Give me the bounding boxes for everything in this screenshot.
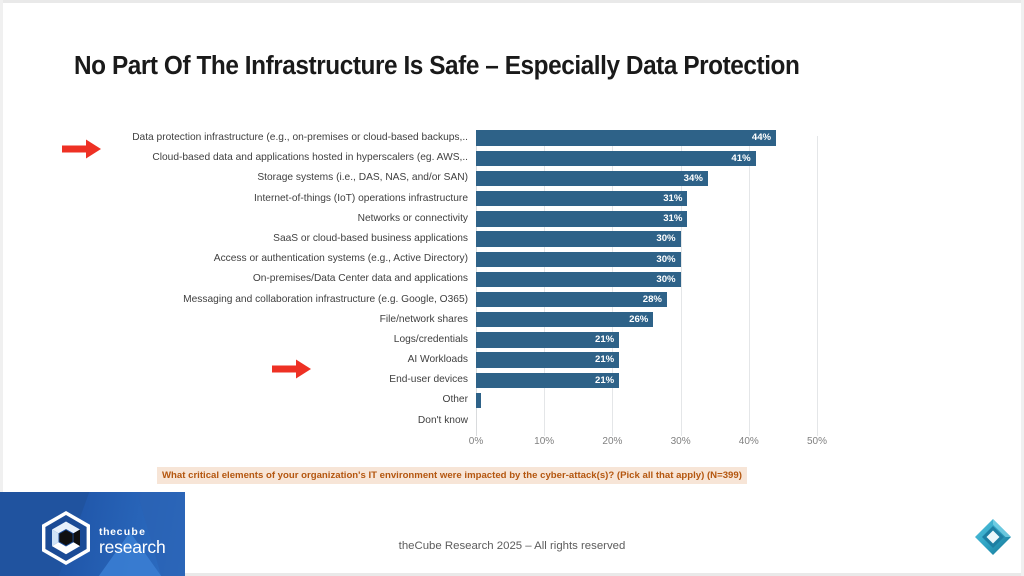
chart-category-label: Logs/credentials (394, 330, 476, 350)
chart-bar-container (476, 393, 481, 408)
logo-wordmark: theCUBE research (99, 525, 166, 556)
chart-row: AI Workloads21% (0, 350, 1024, 370)
chart-bar-container: 34% (476, 171, 708, 186)
chart-bar[interactable]: 44% (476, 130, 776, 145)
chart-bar-value: 26% (629, 312, 648, 327)
chart-bar-container: 26% (476, 312, 653, 327)
chart-bar[interactable]: 31% (476, 191, 687, 206)
chart-row: Storage systems (i.e., DAS, NAS, and/or … (0, 168, 1024, 188)
thecube-research-logo: theCUBE research (0, 492, 185, 576)
chart-bar[interactable]: 31% (476, 211, 687, 226)
chart-bar[interactable]: 21% (476, 373, 619, 388)
chart-bar-value: 21% (595, 332, 614, 347)
chart-row: SaaS or cloud-based business application… (0, 229, 1024, 249)
chart-x-tick-label: 40% (739, 436, 759, 447)
chart-bar-value: 21% (595, 352, 614, 367)
bar-chart: Data protection infrastructure (e.g., on… (0, 128, 1024, 453)
chart-bar-value: 30% (656, 272, 675, 287)
chart-bar[interactable]: 30% (476, 272, 681, 287)
chart-bar-value: 21% (595, 373, 614, 388)
chart-row: Internet-of-things (IoT) operations infr… (0, 189, 1024, 209)
chart-x-tick-label: 50% (807, 436, 827, 447)
logo-wordmark-bottom: research (99, 539, 166, 557)
chart-bar-container: 30% (476, 272, 681, 287)
chart-category-label: Networks or connectivity (358, 209, 476, 229)
chart-question-caption: What critical elements of your organizat… (157, 467, 747, 484)
chart-bar[interactable]: 41% (476, 151, 756, 166)
chart-row: Don't know (0, 411, 1024, 431)
chart-row: File/network shares26% (0, 310, 1024, 330)
chart-bar-container: 30% (476, 252, 681, 267)
chart-category-label: Data protection infrastructure (e.g., on… (132, 128, 476, 148)
chart-x-tick-label: 0% (469, 436, 483, 447)
chart-bar-value: 41% (731, 151, 750, 166)
chart-bar-container: 21% (476, 373, 619, 388)
chart-bar[interactable]: 34% (476, 171, 708, 186)
chart-x-axis: 0%10%20%30%40%50% (476, 436, 817, 452)
chart-bar-value: 34% (684, 171, 703, 186)
chart-category-label: SaaS or cloud-based business application… (273, 229, 476, 249)
chart-category-label: Don't know (418, 411, 476, 431)
chart-bar-value: 31% (663, 211, 682, 226)
chart-x-tick-label: 10% (534, 436, 554, 447)
chart-bar-container: 31% (476, 211, 687, 226)
chart-x-tick-label: 20% (602, 436, 622, 447)
chart-bar[interactable]: 30% (476, 231, 681, 246)
chart-bar-container: 44% (476, 130, 776, 145)
chart-category-label: Storage systems (i.e., DAS, NAS, and/or … (257, 168, 476, 188)
chart-category-label: Cloud-based data and applications hosted… (152, 148, 476, 168)
chart-bar-value: 30% (656, 252, 675, 267)
chart-bar[interactable]: 26% (476, 312, 653, 327)
slide-canvas: No Part Of The Infrastructure Is Safe – … (0, 0, 1024, 576)
chart-row: Logs/credentials21% (0, 330, 1024, 350)
chart-bar-value: 44% (752, 130, 771, 145)
chart-bar-container: 31% (476, 191, 687, 206)
chart-row: Cloud-based data and applications hosted… (0, 148, 1024, 168)
chart-bar-container: 21% (476, 352, 619, 367)
chart-row: Access or authentication systems (e.g., … (0, 249, 1024, 269)
chart-bar-container: 21% (476, 332, 619, 347)
chart-category-label: Other (443, 390, 476, 410)
chart-category-label: Messaging and collaboration infrastructu… (183, 290, 476, 310)
chart-bar[interactable] (476, 393, 481, 408)
chart-bar[interactable]: 21% (476, 332, 619, 347)
chart-bar-value: 30% (656, 231, 675, 246)
chart-bar-container: 30% (476, 231, 681, 246)
chart-row: End-user devices21% (0, 370, 1024, 390)
red-arrow-data-protection (62, 139, 102, 164)
diamond-logo-icon (972, 516, 1014, 558)
chart-category-label: File/network shares (380, 310, 476, 330)
chart-bar[interactable]: 21% (476, 352, 619, 367)
chart-row: Messaging and collaboration infrastructu… (0, 290, 1024, 310)
chart-bar-container: 28% (476, 292, 667, 307)
chart-bar-container: 41% (476, 151, 756, 166)
chart-rows: Data protection infrastructure (e.g., on… (0, 128, 1024, 431)
slide-border-top (0, 0, 1024, 3)
chart-row: Other (0, 390, 1024, 410)
chart-category-label: Internet-of-things (IoT) operations infr… (254, 189, 476, 209)
chart-bar[interactable]: 30% (476, 252, 681, 267)
red-arrow-ai-workloads (272, 359, 312, 384)
chart-bar[interactable]: 28% (476, 292, 667, 307)
cube-hexagon-icon (40, 510, 92, 571)
logo-wordmark-top: theCUBE (99, 527, 166, 538)
chart-bar-value: 28% (643, 292, 662, 307)
chart-x-tick-label: 30% (671, 436, 691, 447)
chart-row: Networks or connectivity31% (0, 209, 1024, 229)
chart-category-label: AI Workloads (408, 350, 476, 370)
slide-title: No Part Of The Infrastructure Is Safe – … (74, 52, 914, 81)
chart-bar-value: 31% (663, 191, 682, 206)
chart-category-label: Access or authentication systems (e.g., … (214, 249, 476, 269)
chart-category-label: End-user devices (389, 370, 476, 390)
chart-row: Data protection infrastructure (e.g., on… (0, 128, 1024, 148)
chart-row: On-premises/Data Center data and applica… (0, 269, 1024, 289)
chart-category-label: On-premises/Data Center data and applica… (253, 269, 476, 289)
